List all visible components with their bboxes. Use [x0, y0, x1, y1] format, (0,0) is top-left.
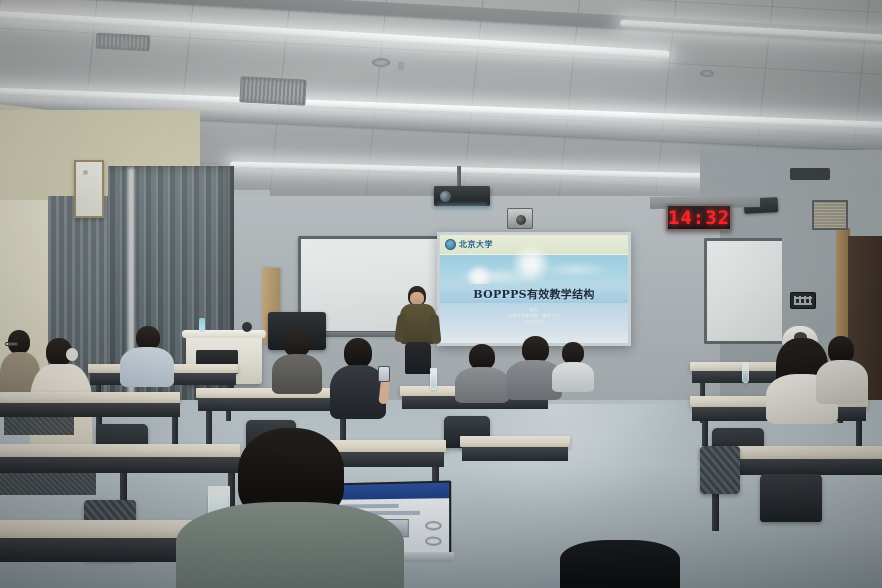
attendee-torso — [552, 362, 594, 392]
desk-panel — [462, 447, 568, 461]
attendee-hair-tie — [66, 348, 78, 361]
classroom-desk — [0, 392, 180, 403]
attendee-head — [522, 336, 549, 363]
bottle-cap — [430, 368, 437, 373]
wall-vent-grille — [812, 200, 848, 230]
projector-lens-icon — [440, 191, 451, 202]
water-bottle — [430, 372, 437, 390]
slide-title: BOPPPS有效教学结构 — [473, 286, 594, 302]
desk-mesh-panel — [0, 473, 96, 495]
attendee-right-2 — [816, 336, 870, 402]
hvac-vent — [239, 76, 306, 105]
smoke-detector-icon — [700, 70, 714, 77]
bottle-cap — [742, 362, 749, 367]
classroom-desk — [460, 436, 570, 447]
control-buttons-icon — [794, 296, 812, 305]
presenter-arm — [429, 314, 441, 345]
attendee-torso — [272, 354, 322, 394]
attendee-with-phone — [360, 366, 406, 420]
university-seal-icon — [445, 239, 456, 250]
attendee-glasses-icon — [5, 342, 18, 346]
clock-time: 14:32 — [668, 207, 730, 229]
wall-speaker — [790, 168, 830, 180]
attendee-torso — [120, 347, 174, 387]
attendee-center-3 — [455, 344, 511, 400]
projector-beam — [436, 204, 488, 214]
camera-lens-icon — [516, 215, 526, 225]
water-bottle — [199, 318, 205, 332]
ceiling-camera — [507, 208, 533, 229]
attendee-head — [344, 338, 372, 368]
smoke-detector-icon — [372, 58, 390, 67]
led-clock: 14:32 — [666, 204, 732, 231]
slide-subtitle-line: 2024年9月 — [440, 319, 628, 325]
projection-screen: 北京大学 BOPPPS有效教学结构 姓名 北京大学医学部 · 教学中心 2024… — [437, 232, 631, 346]
classroom-chair — [760, 474, 822, 522]
podium-surface — [182, 330, 266, 338]
backpack — [700, 446, 740, 494]
presenter-legs — [405, 342, 431, 374]
slide-title-bar: BOPPPS有效教学结构 — [440, 284, 628, 303]
sprinkler-icon — [122, 40, 128, 49]
wall-control-panel[interactable] — [790, 292, 816, 309]
presentation-slide: 北京大学 BOPPPS有效教学结构 姓名 北京大学医学部 · 教学中心 2024… — [440, 235, 628, 343]
sprinkler-icon — [398, 62, 404, 71]
attendee-foreground — [176, 428, 406, 588]
podium-microphone-icon — [242, 322, 252, 332]
laptop-control-circle[interactable] — [425, 536, 442, 546]
laptop-control-circle[interactable] — [425, 521, 442, 531]
slide-subtitle: 姓名 北京大学医学部 · 教学中心 2024年9月 — [440, 307, 628, 325]
attendee-torso — [176, 502, 404, 588]
slide-banner: 北京大学 — [440, 235, 628, 255]
desk-panel — [0, 403, 180, 417]
desk-mesh-panel — [4, 417, 74, 435]
presenter — [396, 286, 440, 374]
mobile-phone-icon[interactable] — [378, 366, 390, 382]
desk-panel — [198, 398, 352, 411]
panel-knob-icon — [83, 170, 88, 175]
attendee-right-foreground — [560, 540, 680, 588]
attendee-torso — [560, 540, 680, 588]
attendee-torso — [816, 360, 868, 404]
slide-institution-logo: 北京大学 — [459, 239, 493, 250]
wall-mounted-panel[interactable] — [74, 160, 104, 218]
classroom-photo: 14:32 北京大学 BOPPPS有效教学结构 姓名 北京大学医学部 · 教学中… — [0, 0, 882, 588]
attendee-center-1 — [272, 330, 324, 392]
water-bottle — [742, 366, 749, 383]
attendee-head — [562, 342, 584, 364]
projector-mount — [457, 166, 461, 188]
attendee-center-5 — [552, 342, 596, 390]
attendee-torso — [455, 367, 509, 403]
ceiling-projector — [434, 186, 490, 206]
attendee-left-3 — [120, 326, 176, 386]
attendee-head — [284, 330, 310, 357]
